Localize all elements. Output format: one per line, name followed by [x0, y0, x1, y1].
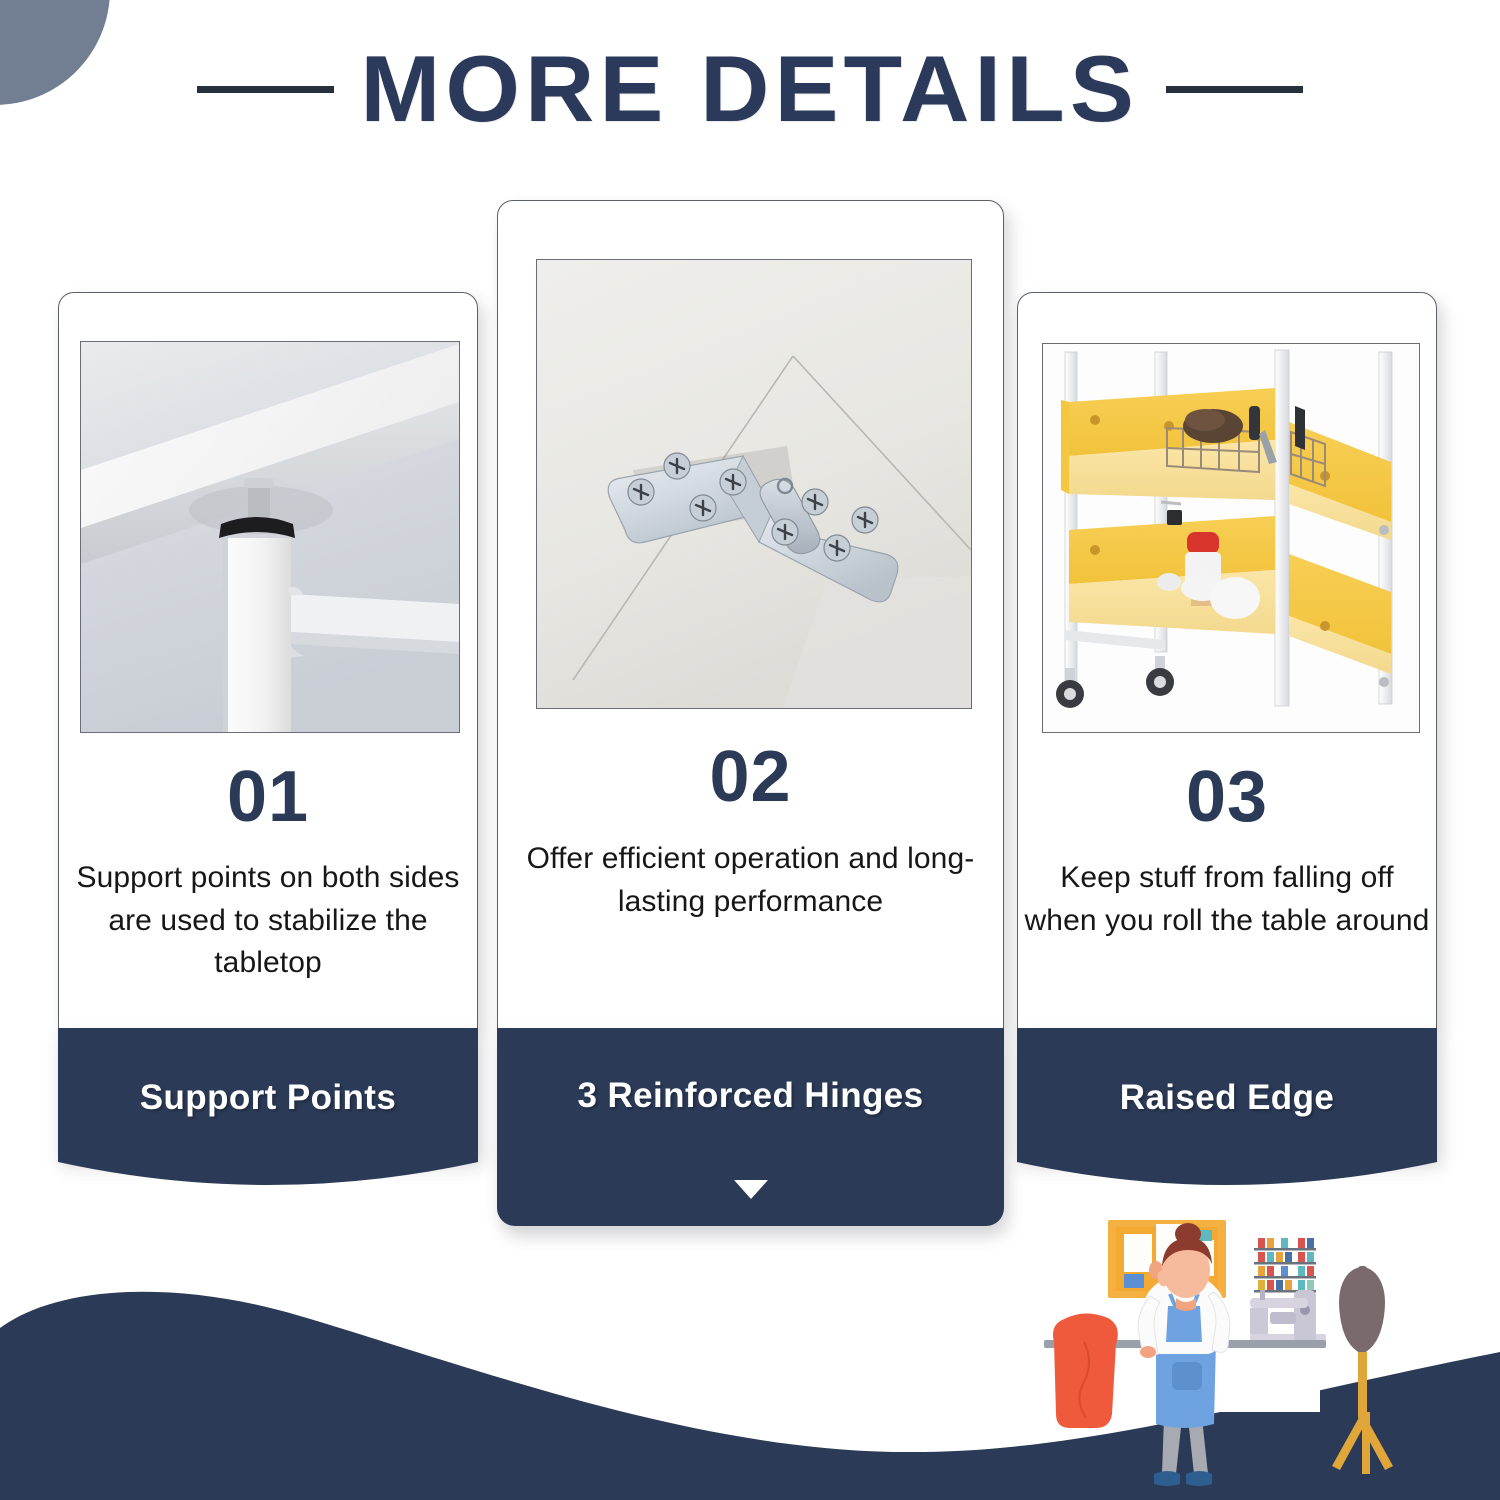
card-1-description: Support points on both sides are used to…	[65, 857, 471, 985]
card-3-footer: Raised Edge	[1017, 1028, 1437, 1156]
card-3-footer-label: Raised Edge	[1017, 1078, 1437, 1118]
card-2-footer-label: 3 Reinforced Hinges	[497, 1076, 1004, 1116]
title-rule-left-icon	[197, 86, 334, 93]
card-2-description: Offer efficient operation and long-lasti…	[504, 838, 997, 923]
card-1-number: 01	[59, 761, 477, 833]
card-1-photo	[80, 341, 460, 733]
card-3-photo	[1042, 343, 1420, 733]
title-rule-right-icon	[1166, 86, 1303, 93]
card-2-number: 02	[498, 741, 1003, 813]
page-header: MORE DETAILS	[0, 34, 1500, 144]
caret-down-icon[interactable]	[734, 1180, 768, 1199]
detail-card-3[interactable]: 03 Keep stuff from falling off when you …	[1017, 292, 1437, 1029]
card-1-footer-curve	[58, 1156, 478, 1202]
page-title: MORE DETAILS	[361, 42, 1140, 136]
detail-card-2[interactable]: 02 Offer efficient operation and long-la…	[497, 200, 1004, 1029]
card-3-number: 03	[1018, 761, 1436, 833]
card-2-photo	[536, 259, 972, 709]
card-3-description: Keep stuff from falling off when you rol…	[1024, 857, 1430, 942]
card-2-footer: 3 Reinforced Hinges	[497, 1028, 1004, 1226]
card-1-footer: Support Points	[58, 1028, 478, 1156]
detail-card-1[interactable]: 01 Support points on both sides are used…	[58, 292, 478, 1029]
card-3-footer-curve	[1017, 1156, 1437, 1202]
seamstress-workshop-illustration	[1036, 1212, 1448, 1500]
card-1-footer-label: Support Points	[58, 1078, 478, 1118]
details-card-row: 01 Support points on both sides are used…	[0, 0, 1500, 1260]
